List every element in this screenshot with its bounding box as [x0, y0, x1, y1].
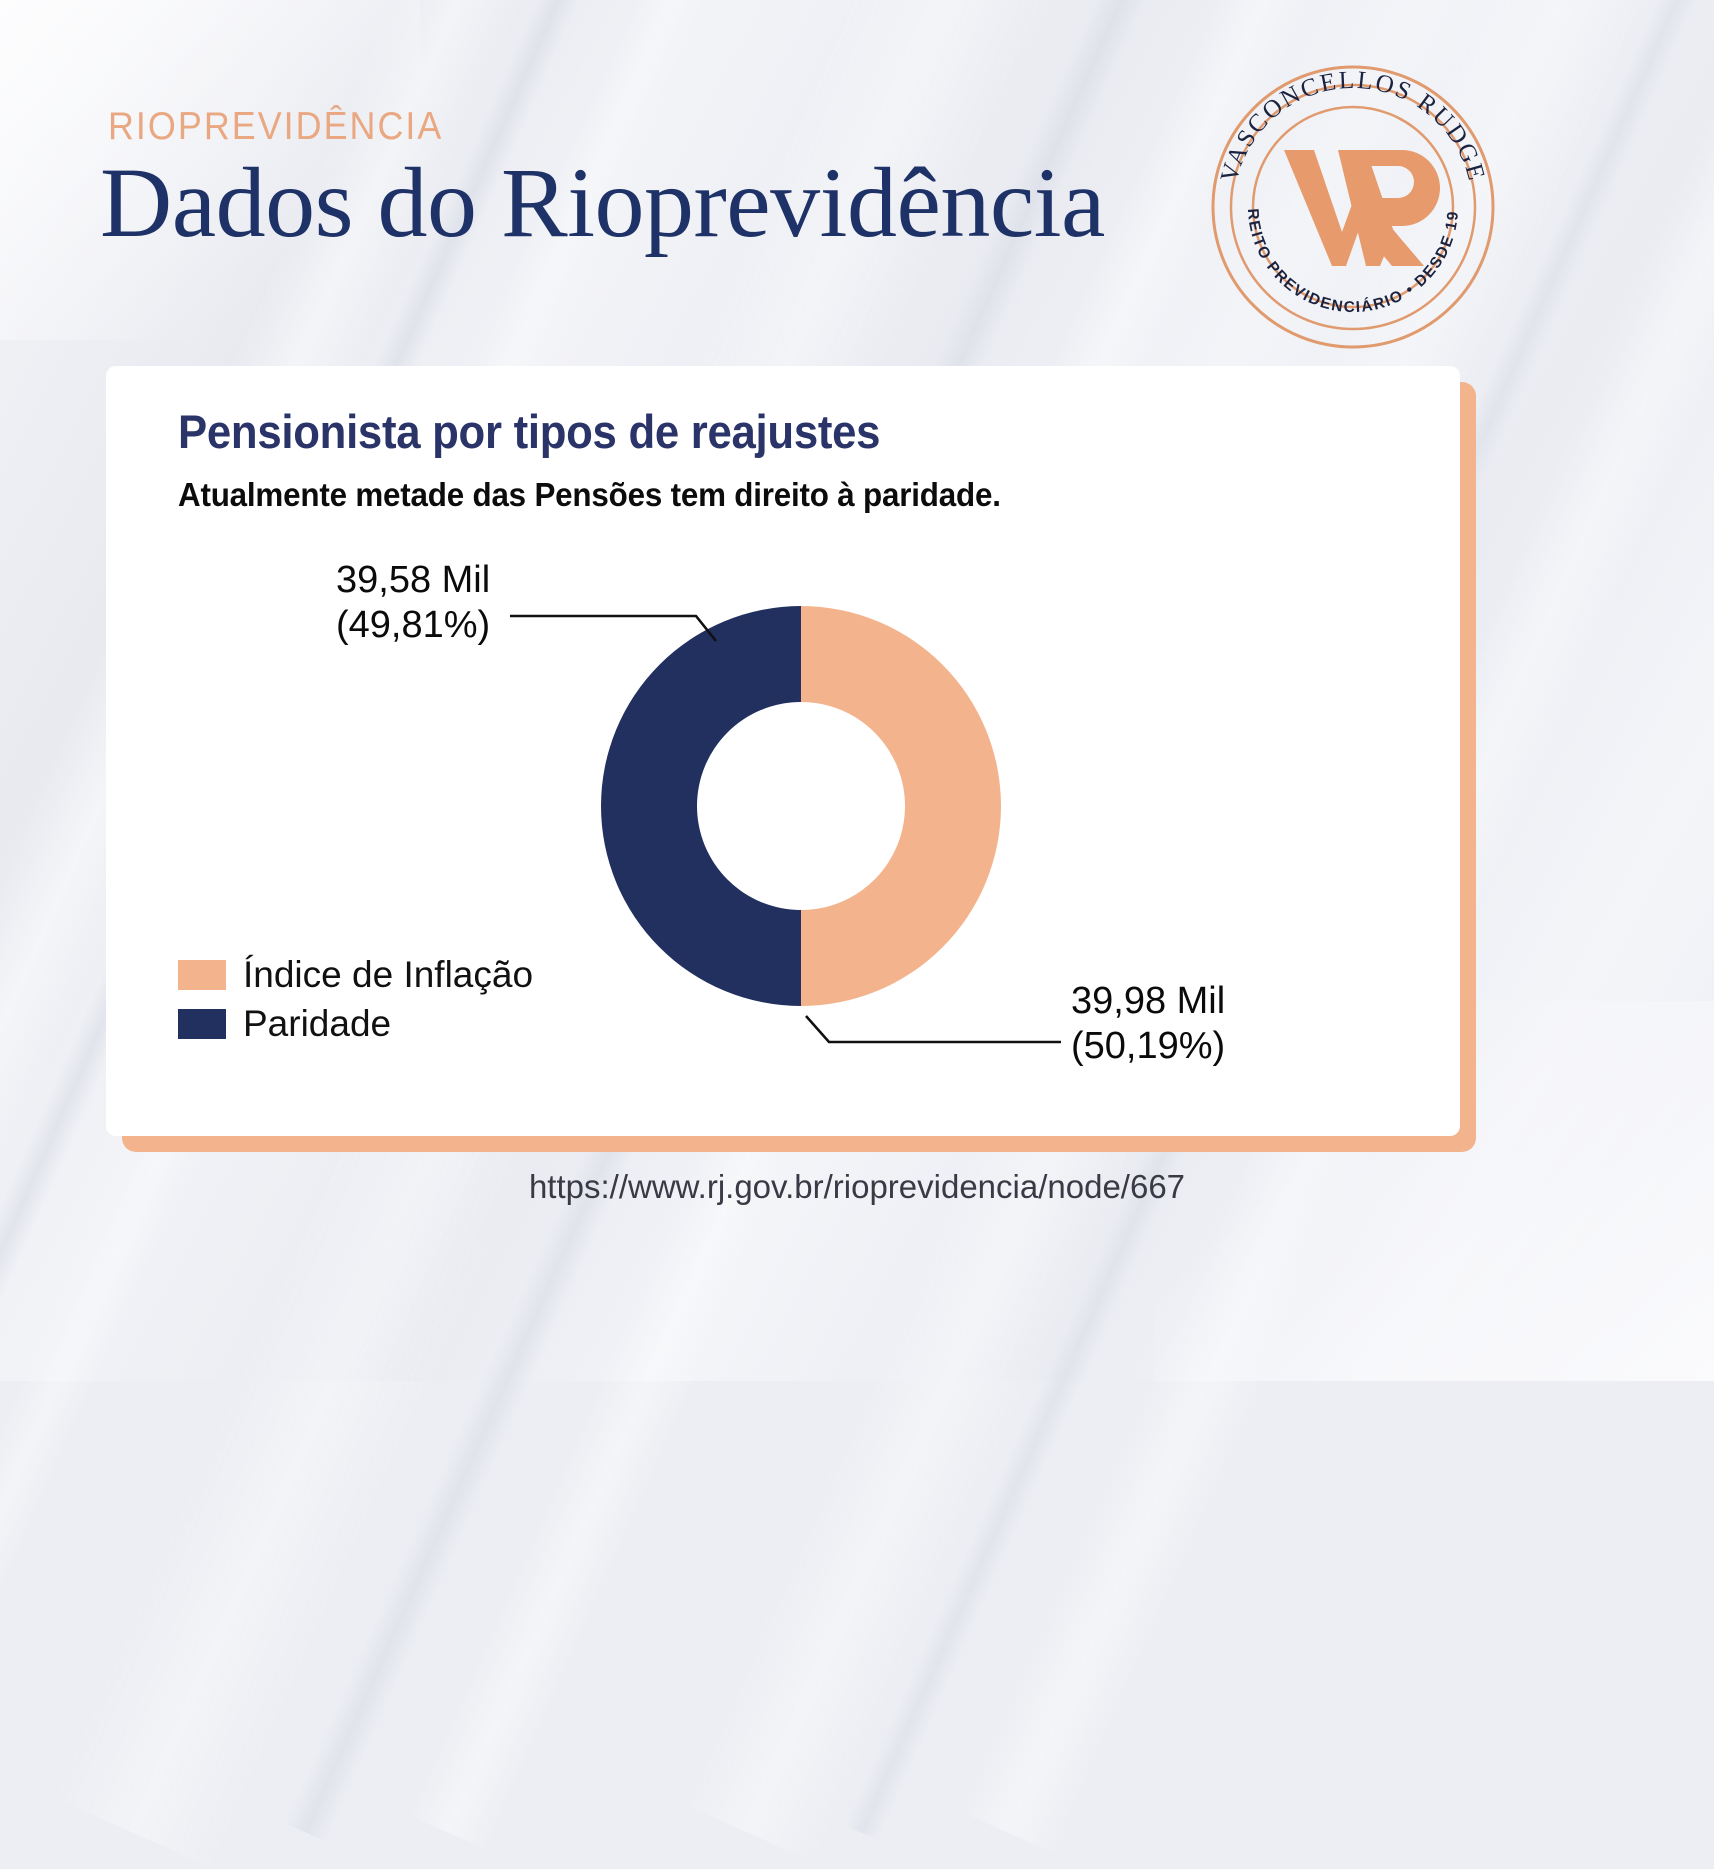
- logo-seal: VASCONCELLOS RUDGE DIREITO PREVIDENCIÁRI…: [1208, 62, 1498, 352]
- callout-paridade: 39,58 Mil (49,81%): [336, 558, 490, 648]
- legend-label-indice-inflacao: Índice de Inflação: [243, 956, 533, 993]
- header-kicker: RIOPREVIDÊNCIA: [108, 105, 443, 149]
- page-title: Dados do Rioprevidência: [100, 150, 1105, 255]
- legend-item-paridade: Paridade: [178, 1005, 533, 1042]
- logo-monogram-vr: [1284, 150, 1440, 266]
- chart-card: Pensionista por tipos de reajustes Atual…: [106, 366, 1460, 1136]
- legend-swatch-indice-inflacao: [178, 960, 226, 990]
- chart-subtitle: Atualmente metade das Pensões tem direit…: [178, 476, 1001, 514]
- legend-item-indice-inflacao: Índice de Inflação: [178, 956, 533, 993]
- source-url[interactable]: https://www.rj.gov.br/rioprevidencia/nod…: [0, 1168, 1714, 1206]
- chart-legend: Índice de Inflação Paridade: [178, 956, 533, 1054]
- donut-chart: [601, 606, 1001, 1006]
- callout-indice-inflacao: 39,98 Mil (50,19%): [1071, 979, 1225, 1069]
- donut-hole: [697, 702, 905, 910]
- callout-indice-value: 39,98 Mil: [1071, 979, 1225, 1024]
- legend-label-paridade: Paridade: [243, 1005, 391, 1042]
- chart-title: Pensionista por tipos de reajustes: [178, 404, 880, 459]
- legend-swatch-paridade: [178, 1009, 226, 1039]
- callout-paridade-percent: (49,81%): [336, 603, 490, 648]
- callout-indice-percent: (50,19%): [1071, 1024, 1225, 1069]
- callout-paridade-value: 39,58 Mil: [336, 558, 490, 603]
